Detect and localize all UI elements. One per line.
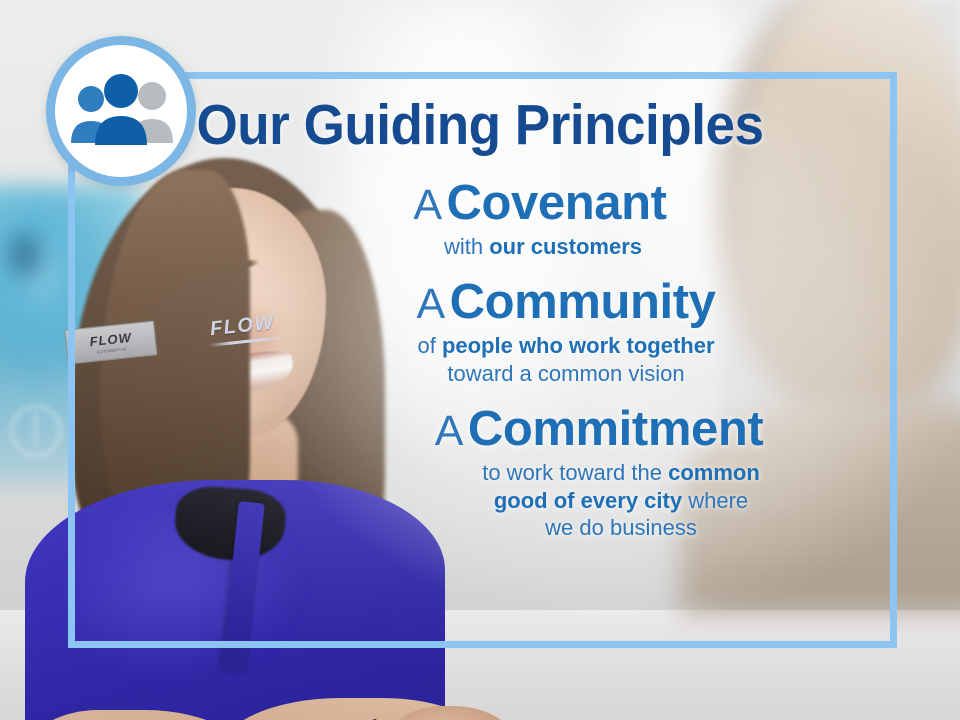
principle-commitment: A Commitment to work toward the common g… xyxy=(308,404,890,541)
principle-subtext-line: of people who work together xyxy=(242,332,890,360)
principle-article: A xyxy=(435,407,464,455)
subtext-run-bold: common xyxy=(668,460,760,485)
principle-subtext-line: to work toward the common xyxy=(352,459,890,487)
subtext-run: we do business xyxy=(545,515,697,540)
principle-subtext-line: we do business xyxy=(352,514,890,542)
principles-list: A Covenant with our customers A Communit… xyxy=(190,178,890,559)
principle-heading: A Community xyxy=(242,277,890,328)
subtext-run-bold: our customers xyxy=(489,234,642,259)
principle-subtext-line: good of every city where xyxy=(352,487,890,515)
principle-covenant: A Covenant with our customers xyxy=(190,178,890,260)
principle-keyword: Covenant xyxy=(447,176,667,230)
subtext-run-bold: good of every city xyxy=(494,488,682,513)
principle-keyword: Commitment xyxy=(468,402,763,456)
principle-heading: A Covenant xyxy=(190,178,890,229)
principle-subtext: to work toward the common good of every … xyxy=(352,459,890,542)
principle-community: A Community of people who work together … xyxy=(242,277,890,387)
principle-article: A xyxy=(413,181,442,229)
principle-keyword: Community xyxy=(450,275,716,329)
subtext-run: of xyxy=(417,333,441,358)
subtext-run: with xyxy=(444,234,489,259)
subtext-run-bold: people who work together xyxy=(442,333,715,358)
principle-subtext-line: toward a common vision xyxy=(242,360,890,388)
principle-subtext: of people who work together toward a com… xyxy=(242,332,890,387)
page-title: Our Guiding Principles xyxy=(34,92,927,158)
subtext-run: where xyxy=(682,488,748,513)
principle-heading: A Commitment xyxy=(308,404,890,455)
poster-canvas: FLOW AUTOMOTIVE FLOW Ou xyxy=(0,0,960,720)
principle-subtext-line: with our customers xyxy=(196,233,890,261)
subtext-run: to work toward the xyxy=(482,460,668,485)
principle-article: A xyxy=(416,280,445,328)
subtext-run: toward a common vision xyxy=(447,361,684,386)
principle-subtext: with our customers xyxy=(196,233,890,261)
